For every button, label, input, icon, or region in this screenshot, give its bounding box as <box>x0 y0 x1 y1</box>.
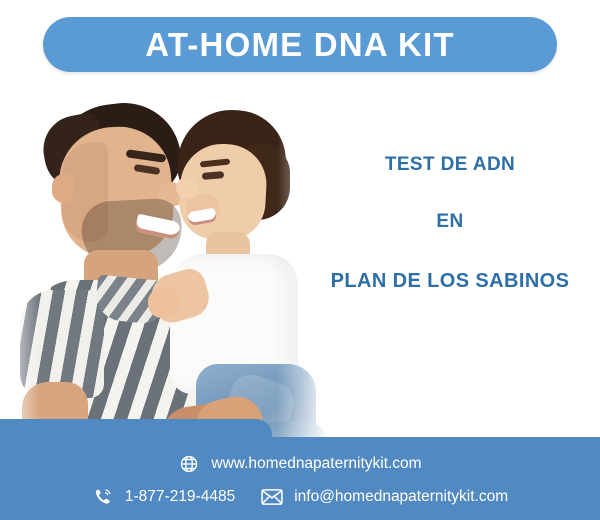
email-label: info@homednapaternitykit.com <box>294 489 508 505</box>
website-item[interactable]: www.homednapaternitykit.com <box>178 453 421 475</box>
page-title: AT-HOME DNA KIT <box>145 28 454 61</box>
footer-contact-bar: www.homednapaternitykit.com 1-877-219-44… <box>0 437 600 520</box>
father-ear <box>52 174 74 203</box>
headline-line-2: EN <box>300 212 600 231</box>
child-nose <box>176 178 198 198</box>
family-photo <box>0 82 330 457</box>
poster-canvas: AT-HOME DNA KIT <box>0 0 600 520</box>
phone-icon <box>92 486 114 508</box>
title-banner: AT-HOME DNA KIT <box>43 17 557 72</box>
footer-rows: www.homednapaternitykit.com 1-877-219-44… <box>0 437 600 520</box>
footer-row-website: www.homednapaternitykit.com <box>0 453 600 475</box>
phone-label: 1-877-219-4485 <box>125 489 235 505</box>
phone-item[interactable]: 1-877-219-4485 <box>92 486 235 508</box>
headline-block: TEST DE ADN EN PLAN DE LOS SABINOS <box>300 155 600 291</box>
headline-line-1: TEST DE ADN <box>300 155 600 174</box>
website-label: www.homednapaternitykit.com <box>211 456 421 472</box>
globe-icon <box>178 453 200 475</box>
child-hand <box>148 288 180 318</box>
email-item[interactable]: info@homednapaternitykit.com <box>261 486 508 508</box>
footer-row-phone-email: 1-877-219-4485 info@homednapaternitykit.… <box>0 486 600 508</box>
headline-line-3: PLAN DE LOS SABINOS <box>300 271 600 291</box>
photo-illustration <box>0 82 330 457</box>
envelope-icon <box>261 486 283 508</box>
